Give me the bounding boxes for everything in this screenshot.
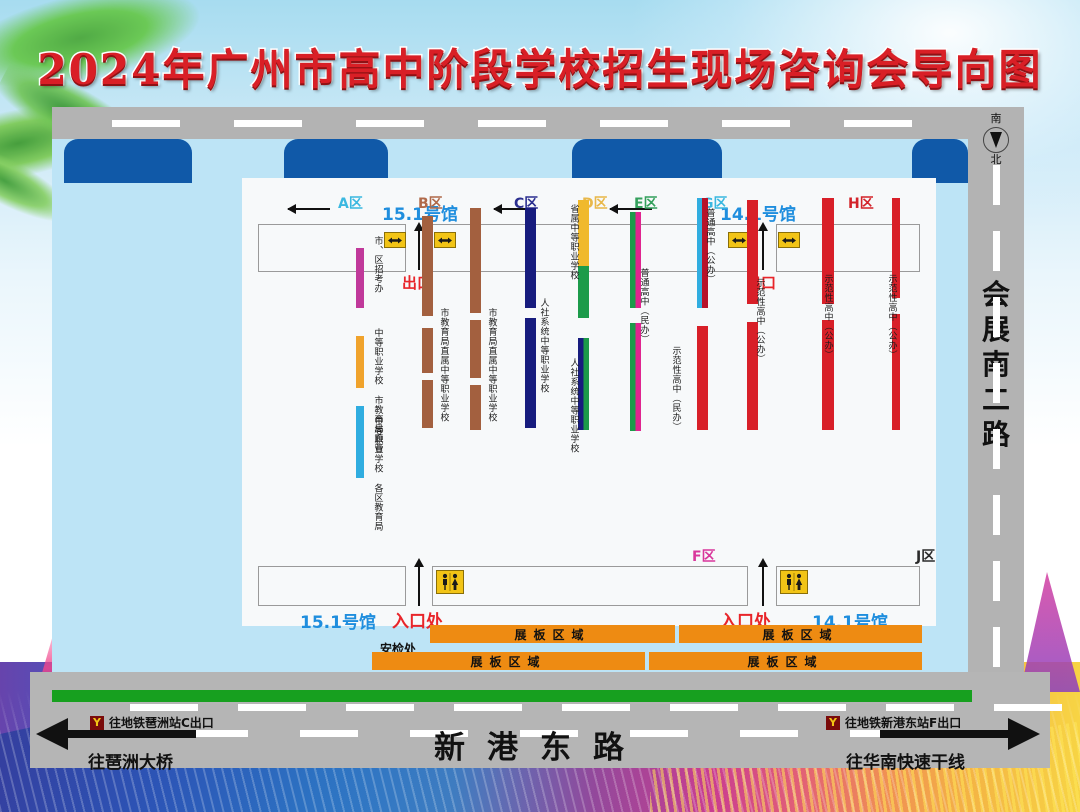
- road-dash: [234, 120, 302, 127]
- road-dash-vertical: [993, 561, 1000, 601]
- road-right: 南 北 会展南二路: [968, 107, 1024, 707]
- awning-3: [572, 139, 722, 183]
- booth-caption: 人社系统中等职业学校: [538, 298, 547, 393]
- poster-root: 2024年广州市高中阶段学校招生现场咨询会导向图 A区：广州市各区教育局中等职业…: [0, 0, 1080, 812]
- road-dash-vertical: [993, 495, 1000, 535]
- exhibition-hall: 15.1号馆 14.1号馆 出: [242, 178, 936, 626]
- road-dash: [478, 120, 546, 127]
- exhibition-panel-label-4: 展板区域: [649, 652, 922, 670]
- booth-bar-b2-mid: [470, 320, 481, 378]
- road-dash: [994, 704, 1062, 711]
- road-dash: [670, 704, 738, 711]
- road-dash-vertical: [993, 231, 1000, 271]
- road-dash: [600, 120, 668, 127]
- compass-needle-icon: [983, 127, 1009, 153]
- booth-caption: 示范性高中（公办）: [754, 278, 763, 364]
- metro-tag-left: Y 往地铁琶洲站C出口: [90, 714, 214, 731]
- booth-bar-b2-top: [470, 208, 481, 313]
- booth-caption: 中等职业学校 各区教育局: [372, 416, 381, 531]
- road-dash: [778, 704, 846, 711]
- escalator-icon-4: [778, 232, 800, 248]
- road-dash-vertical: [993, 429, 1000, 469]
- direction-label-west: 往琶洲大桥: [88, 748, 173, 773]
- booth-bar-d-top: [578, 200, 589, 318]
- entry-arrow-left: [418, 566, 420, 606]
- metro-tag-right-label: 往地铁新港东站F出口: [845, 714, 961, 731]
- metro-tag-right: Y 往地铁新港东站F出口: [826, 714, 961, 731]
- booth-caption: 人社系统中等职业学校: [568, 358, 577, 453]
- booth-caption: 市教育局直属中等职业学校: [486, 308, 495, 422]
- exhibition-panel-strip-4: 展板区域: [649, 652, 922, 670]
- booth-bar-b2-bot: [470, 385, 481, 430]
- lower-corridor-left: [258, 566, 406, 606]
- hall-number-15-1-bottom: 15.1号馆: [300, 608, 376, 633]
- booth-bar-b1-mid: [422, 328, 433, 373]
- venue-map: 南 北 会展南二路 15.1号馆 14.1号馆: [52, 107, 1024, 707]
- exhibition-panel-strip-3: 展板区域: [372, 652, 645, 670]
- exhibition-panel-label-3: 展板区域: [372, 652, 645, 670]
- page-title: 2024年广州市高中阶段学校招生现场咨询会导向图: [0, 36, 1080, 97]
- lower-corridor-mid: [432, 566, 748, 606]
- road-dash-vertical: [993, 165, 1000, 205]
- zone-title-A区: A区: [338, 193, 363, 213]
- flow-arrow-left-1: [288, 208, 330, 210]
- road-dash: [844, 120, 912, 127]
- metro-tag-left-label: 往地铁琶洲站C出口: [109, 714, 214, 731]
- booth-caption: 普通高中（民办）: [638, 268, 647, 344]
- road-dash: [130, 704, 198, 711]
- road-dash: [886, 704, 954, 711]
- direction-arrow-west: [66, 730, 196, 738]
- booth-caption: 市、区招考办: [372, 236, 381, 293]
- exhibition-panel-label-2: 展板区域: [679, 625, 922, 643]
- awning-1: [64, 139, 192, 183]
- booth-bar-b1-top: [422, 216, 433, 316]
- exit-arrow-right: [762, 230, 764, 270]
- booth-bar-c-top: [525, 208, 536, 308]
- road-dash: [454, 704, 522, 711]
- metro-logo-icon-2: Y: [826, 716, 840, 730]
- road-dash: [238, 704, 306, 711]
- road-dash: [112, 120, 180, 127]
- road-dash-vertical: [993, 297, 1000, 337]
- road-dash: [722, 120, 790, 127]
- escalator-icon-1: [384, 232, 406, 248]
- booth-bar-b1-bot: [422, 380, 433, 428]
- compass: 南 北: [976, 113, 1016, 166]
- green-divider-band: [52, 690, 972, 702]
- booth-caption: 省属中等职业学校: [568, 204, 577, 280]
- zone-title-E区: E区: [634, 193, 658, 213]
- booth-caption: 示范性高中（公办）: [886, 274, 895, 360]
- awning-4: [912, 139, 968, 183]
- zone-title-F区: F区: [692, 546, 716, 566]
- road-top: [52, 107, 968, 139]
- booth-caption: 普通高中（公办）: [704, 208, 713, 284]
- awning-2: [284, 139, 388, 183]
- metro-logo-icon: Y: [90, 716, 104, 730]
- compass-south-label: 南: [976, 113, 1016, 126]
- booth-bar-g-bot: [697, 326, 708, 430]
- exit-arrow-left: [418, 230, 420, 270]
- road-dash-vertical: [993, 627, 1000, 667]
- booth-bar-a-blue: [356, 406, 364, 478]
- booth-caption: 示范性高中（公办）: [822, 274, 831, 360]
- exhibition-panel-strip-1: 展板区域: [430, 625, 675, 643]
- restroom-icon-left: [436, 570, 464, 594]
- direction-arrow-east: [880, 730, 1010, 738]
- booth-caption: 示范性高中（民办）: [670, 346, 679, 432]
- booth-bar-a-orange: [356, 336, 364, 388]
- direction-label-east: 往华南快速干线: [846, 748, 965, 773]
- zone-title-B区: B区: [418, 193, 443, 213]
- exhibition-panel-label-1: 展板区域: [430, 625, 675, 643]
- restroom-icon-right: [780, 570, 808, 594]
- road-dash: [346, 704, 414, 711]
- road-dash: [562, 704, 630, 711]
- zone-title-J区: J区: [916, 546, 935, 566]
- booth-bar-a-pink: [356, 248, 364, 308]
- zone-title-H区: H区: [848, 193, 874, 213]
- entry-arrow-right: [762, 566, 764, 606]
- road-dash-vertical: [993, 363, 1000, 403]
- booth-bar-d-bot: [578, 338, 589, 430]
- booth-bar-c-bot: [525, 318, 536, 428]
- road-dash: [356, 120, 424, 127]
- escalator-icon-2: [434, 232, 456, 248]
- booth-caption: 市教育局直属中等职业学校: [438, 308, 447, 422]
- exhibition-panel-strip-2: 展板区域: [679, 625, 922, 643]
